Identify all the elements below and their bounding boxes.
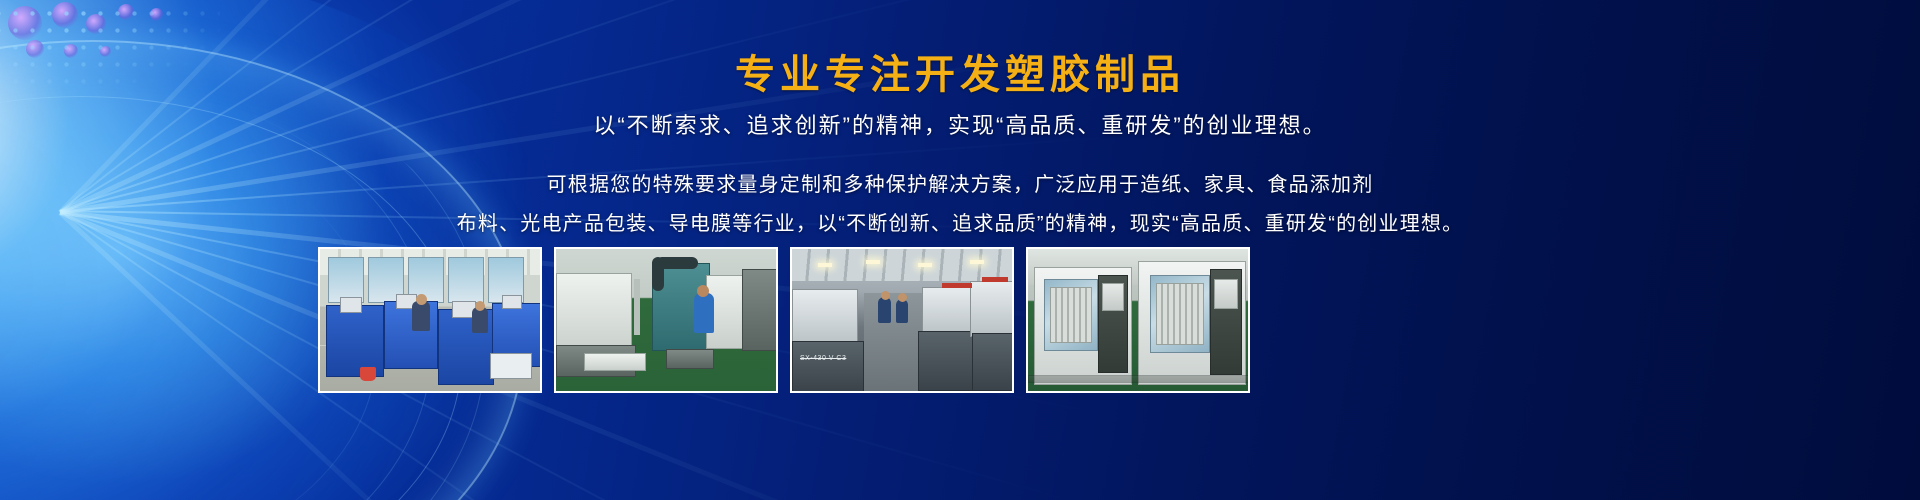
photo-injection-molding-line[interactable]: SX-430 V C3 (790, 247, 1014, 393)
banner-title: 专业专注开发塑胶制品 (0, 42, 1920, 100)
banner-body-line-2: 布料、光电产品包装、导电膜等行业，以“不断创新、追求品质”的精神，现实“高品质、… (0, 207, 1920, 236)
machine-label: SX-430 V C3 (800, 355, 846, 362)
photo-cnc-machine-operator[interactable] (554, 247, 778, 393)
photo-cnc-machining-center[interactable] (1026, 247, 1250, 393)
promo-banner: 专业专注开发塑胶制品 以“不断索求、追求创新”的精神，实现“高品质、重研发”的创… (0, 0, 1920, 500)
photo-office-workstations[interactable] (318, 247, 542, 393)
banner-subtitle: 以“不断索求、追求创新”的精神，实现“高品质、重研发”的创业理想。 (0, 108, 1920, 140)
banner-body-line-1: 可根据您的特殊要求量身定制和多种保护解决方案，广泛应用于造纸、家具、食品添加剂 (0, 168, 1920, 197)
photo-strip: SX-430 V C3 (318, 247, 1250, 393)
